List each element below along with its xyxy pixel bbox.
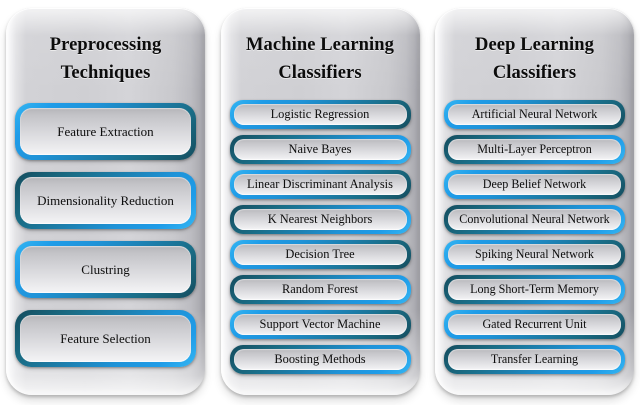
list-item[interactable]: Convolutional Neural Network (444, 205, 625, 234)
taxonomy-diagram: Preprocessing Techniques Feature Extract… (0, 0, 640, 405)
panel-machine-learning-classifiers: Machine Learning Classifiers Logistic Re… (221, 8, 420, 395)
list-item-label: Transfer Learning (448, 349, 621, 370)
list-item-label: Dimensionality Reduction (20, 177, 191, 224)
list-item-label: Logistic Regression (234, 104, 407, 125)
panel-preprocessing-techniques: Preprocessing Techniques Feature Extract… (6, 8, 205, 395)
list-item-label: Deep Belief Network (448, 174, 621, 195)
list-item-label: Multi-Layer Perceptron (448, 139, 621, 160)
list-item-label: Decision Tree (234, 244, 407, 265)
list-item-label: K Nearest Neighbors (234, 209, 407, 230)
list-item[interactable]: Boosting Methods (230, 345, 411, 374)
panel-heading-preprocessing: Preprocessing Techniques (15, 31, 196, 87)
list-item[interactable]: Decision Tree (230, 240, 411, 269)
list-item[interactable]: Multi-Layer Perceptron (444, 135, 625, 164)
list-item[interactable]: K Nearest Neighbors (230, 205, 411, 234)
item-list-preprocessing: Feature Extraction Dimensionality Reduct… (15, 103, 196, 395)
list-item[interactable]: Gated Recurrent Unit (444, 310, 625, 339)
list-item-label: Gated Recurrent Unit (448, 314, 621, 335)
panel-heading-deep-learning: Deep Learning Classifiers (444, 31, 625, 87)
list-item-label: Spiking Neural Network (448, 244, 621, 265)
panel-heading-line-2: Classifiers (444, 59, 625, 87)
panel-heading-line-1: Machine Learning (230, 31, 411, 59)
list-item[interactable]: Feature Extraction (15, 103, 196, 160)
list-item-label: Boosting Methods (234, 349, 407, 370)
panel-heading-machine-learning: Machine Learning Classifiers (230, 31, 411, 87)
list-item-label: Naive Bayes (234, 139, 407, 160)
list-item-label: Clustring (20, 246, 191, 293)
list-item-label: Convolutional Neural Network (448, 209, 621, 230)
panel-heading-line-2: Techniques (15, 59, 196, 87)
item-list-deep-learning: Artificial Neural Network Multi-Layer Pe… (444, 100, 625, 395)
list-item[interactable]: Artificial Neural Network (444, 100, 625, 129)
list-item[interactable]: Spiking Neural Network (444, 240, 625, 269)
panel-heading-line-2: Classifiers (230, 59, 411, 87)
list-item-label: Feature Selection (20, 315, 191, 362)
list-item[interactable]: Linear Discriminant Analysis (230, 170, 411, 199)
list-item-label: Support Vector Machine (234, 314, 407, 335)
list-item[interactable]: Clustring (15, 241, 196, 298)
list-item-label: Random Forest (234, 279, 407, 300)
list-item-label: Feature Extraction (20, 108, 191, 155)
item-list-machine-learning: Logistic Regression Naive Bayes Linear D… (230, 100, 411, 395)
list-item-label: Linear Discriminant Analysis (234, 174, 407, 195)
panel-heading-line-1: Preprocessing (15, 31, 196, 59)
list-item[interactable]: Random Forest (230, 275, 411, 304)
list-item[interactable]: Naive Bayes (230, 135, 411, 164)
panel-heading-line-1: Deep Learning (444, 31, 625, 59)
list-item[interactable]: Long Short-Term Memory (444, 275, 625, 304)
list-item-label: Artificial Neural Network (448, 104, 621, 125)
list-item[interactable]: Feature Selection (15, 310, 196, 367)
panel-deep-learning-classifiers: Deep Learning Classifiers Artificial Neu… (435, 8, 634, 395)
list-item[interactable]: Support Vector Machine (230, 310, 411, 339)
list-item[interactable]: Dimensionality Reduction (15, 172, 196, 229)
list-item-label: Long Short-Term Memory (448, 279, 621, 300)
list-item[interactable]: Logistic Regression (230, 100, 411, 129)
list-item[interactable]: Transfer Learning (444, 345, 625, 374)
list-item[interactable]: Deep Belief Network (444, 170, 625, 199)
